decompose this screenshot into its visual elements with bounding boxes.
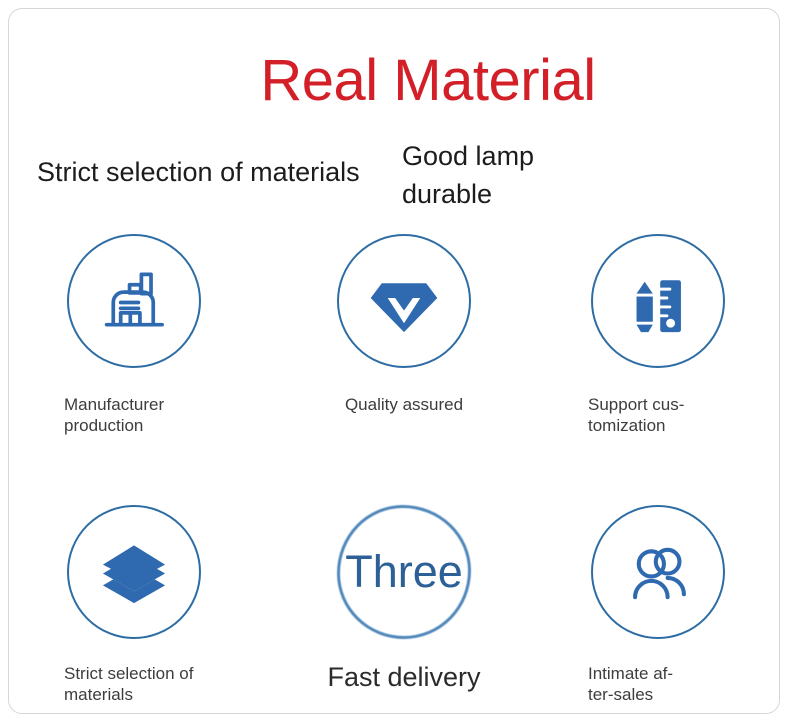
feature-item-support-customization[interactable]: Support cus- tomization [533,234,780,436]
icon-circle-wrap [337,234,471,368]
feature-caption: Quality assured [279,394,529,415]
icon-circle-wrap [591,505,725,639]
caption-line-1: Quality assured [297,394,511,415]
feature-grid: Manufacturer production Quality assured [9,9,779,713]
caption-line-1: Support cus- [588,394,777,415]
feature-item-quality-assured[interactable]: Quality assured [279,234,529,415]
feature-caption: Intimate af- ter-sales [533,663,780,705]
feature-item-intimate-after-sales[interactable]: Intimate af- ter-sales [533,505,780,705]
two-people-icon [621,535,695,609]
caption-line-1: Fast delivery [297,661,511,693]
caption-line-2: ter-sales [588,684,777,705]
feature-caption: Strict selection of materials [9,663,259,705]
caption-line-2: production [64,415,247,436]
feature-item-manufacturer-production[interactable]: Manufacturer production [9,234,259,436]
feature-item-fast-delivery[interactable]: Three Fast delivery [279,505,529,693]
feature-caption: Support cus- tomization [533,394,780,436]
feature-caption: Fast delivery [279,661,529,693]
icon-circle-wrap [67,234,201,368]
icon-circle-wrap: Three [337,505,471,639]
pencil-ruler-icon [621,264,695,338]
diamond-gem-icon [367,264,441,338]
factory-icon [97,264,171,338]
caption-line-1: Intimate af- [588,663,777,684]
caption-line-2: materials [64,684,247,705]
icon-circle-wrap [67,505,201,639]
icon-circle [337,505,471,639]
feature-caption: Manufacturer production [9,394,259,436]
layers-stack-icon [97,535,171,609]
caption-line-1: Strict selection of [64,663,247,684]
icon-circle-wrap [591,234,725,368]
feature-card: Real Material Strict selection of materi… [8,8,780,714]
feature-item-strict-selection[interactable]: Strict selection of materials [9,505,259,705]
caption-line-1: Manufacturer [64,394,247,415]
caption-line-2: tomization [588,415,777,436]
